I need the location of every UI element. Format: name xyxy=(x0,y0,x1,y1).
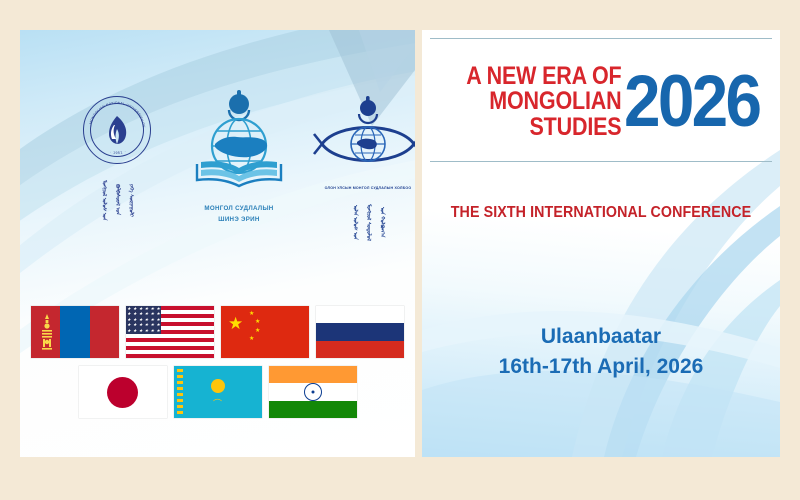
university-seal-icon: MONGOLIAN NATIONAL UNIVERSITY OF EDUCATI… xyxy=(83,96,151,164)
conference-year: 2026 xyxy=(624,68,759,135)
logo1-mongolian-script: ᠮᠣᠩᠭᠣᠯ ᠤᠯᠤᠰ ᠤᠨ ᠪᠣᠯᠪᠠᠰᠤᠷᠠᠯ ᠤᠨ ᠶᠡᠬᠡ ᠰᠤᠷᠭᠠᠭ… xyxy=(62,169,172,231)
eye-globe-icon xyxy=(312,94,415,180)
logo2-caption-line2: ШИНЭ ЭРИН xyxy=(180,216,298,225)
venue-city: Ulaanbaatar xyxy=(422,322,780,352)
right-panel: A NEW ERA OF MONGOLIAN STUDIES 2026 THE … xyxy=(422,30,780,457)
logo-row: MONGOLIAN NATIONAL UNIVERSITY OF EDUCATI… xyxy=(20,88,415,268)
svg-text:MONGOLIAN NATIONAL UNIVERSITY: MONGOLIAN NATIONAL UNIVERSITY OF EDUCATI… xyxy=(83,96,146,129)
middle-divider-rule xyxy=(430,161,772,162)
russia-flag xyxy=(316,306,404,358)
japan-flag xyxy=(79,366,167,418)
seal-text-ring: MONGOLIAN NATIONAL UNIVERSITY OF EDUCATI… xyxy=(83,96,151,164)
logo-mongolian-national-university-of-education: MONGOLIAN NATIONAL UNIVERSITY OF EDUCATI… xyxy=(62,96,172,231)
title-lines: A NEW ERA OF MONGOLIAN STUDIES xyxy=(466,64,621,141)
poster-canvas: MONGOLIAN NATIONAL UNIVERSITY OF EDUCATI… xyxy=(0,0,800,500)
logo3-mongolian-script: ᠣᠯᠠᠨ ᠤᠯᠤᠰ ᠤᠨ ᠮᠣᠩᠭᠣᠯ ᠰᠤᠳᠤᠯᠤᠯ ᠤᠨ ᠬᠣᠯᠪᠣᠭ᠎ᠠ xyxy=(308,193,415,251)
mongolia-flag xyxy=(31,306,119,358)
venue-block: Ulaanbaatar 16th-17th April, 2026 xyxy=(422,322,780,382)
us-flag-stars: ★★★★★★ ★★★★★★ ★★★★★★ ★★★★★★ ★★★★★★ xyxy=(126,306,161,334)
flag-row-2: ︵ xyxy=(20,366,415,418)
china-flag: ★ ★ ★ ★ ★ xyxy=(221,306,309,358)
logo3-caption: ОЛОН УЛСЫН МОНГОЛ СУДЛАЛЫН ХОЛБОО xyxy=(308,186,415,190)
kazakhstan-flag: ︵ xyxy=(174,366,262,418)
script-col-3: ᠶᠡᠬᠡ ᠰᠤᠷᠭᠠᠭᠤᠯᠢ xyxy=(127,169,134,231)
svg-text:· 1951 ·: · 1951 · xyxy=(109,149,126,155)
left-panel: MONGOLIAN NATIONAL UNIVERSITY OF EDUCATI… xyxy=(20,30,415,457)
script-col-1: ᠮᠣᠩᠭᠣᠯ ᠤᠯᠤᠰ ᠤᠨ xyxy=(100,169,107,231)
script-col-2: ᠪᠣᠯᠪᠠᠰᠤᠷᠠᠯ ᠤᠨ xyxy=(114,169,121,231)
united-states-flag: ★★★★★★ ★★★★★★ ★★★★★★ ★★★★★★ ★★★★★★ xyxy=(126,306,214,358)
script-col-1: ᠣᠯᠠᠨ ᠤᠯᠤᠰ ᠤᠨ xyxy=(351,193,358,251)
logo-new-era-of-mongolian-studies: МОНГОЛ СУДЛАЛЫН ШИНЭ ЭРИН xyxy=(180,88,298,225)
venue-dates: 16th-17th April, 2026 xyxy=(422,352,780,382)
title-line-2: MONGOLIAN xyxy=(466,89,621,115)
india-flag xyxy=(269,366,357,418)
title-line-3: STUDIES xyxy=(466,115,621,141)
title-line-1: A NEW ERA OF xyxy=(466,64,621,90)
globe-book-icon xyxy=(183,88,295,198)
conference-subtitle: THE SIXTH INTERNATIONAL CONFERENCE xyxy=(436,204,765,222)
soyombo-icon xyxy=(41,314,53,350)
script-col-2: ᠮᠣᠩᠭᠣᠯ ᠰᠤᠳᠤᠯᠤᠯ xyxy=(365,193,372,251)
logo-international-association-for-mongol-studies: ОЛОН УЛСЫН МОНГОЛ СУДЛАЛЫН ХОЛБОО ᠣᠯᠠᠨ ᠤ… xyxy=(308,94,415,251)
flag-row-1: ★★★★★★ ★★★★★★ ★★★★★★ ★★★★★★ ★★★★★★ ★ ★ ★… xyxy=(20,306,415,358)
participating-country-flags: ★★★★★★ ★★★★★★ ★★★★★★ ★★★★★★ ★★★★★★ ★ ★ ★… xyxy=(20,306,415,418)
script-col-3: ᠤᠨ ᠬᠣᠯᠪᠣᠭ᠎ᠠ xyxy=(378,193,385,251)
logo2-caption-line1: МОНГОЛ СУДЛАЛЫН xyxy=(180,205,298,214)
title-block: A NEW ERA OF MONGOLIAN STUDIES 2026 xyxy=(428,46,774,158)
top-divider-rule xyxy=(430,38,772,39)
